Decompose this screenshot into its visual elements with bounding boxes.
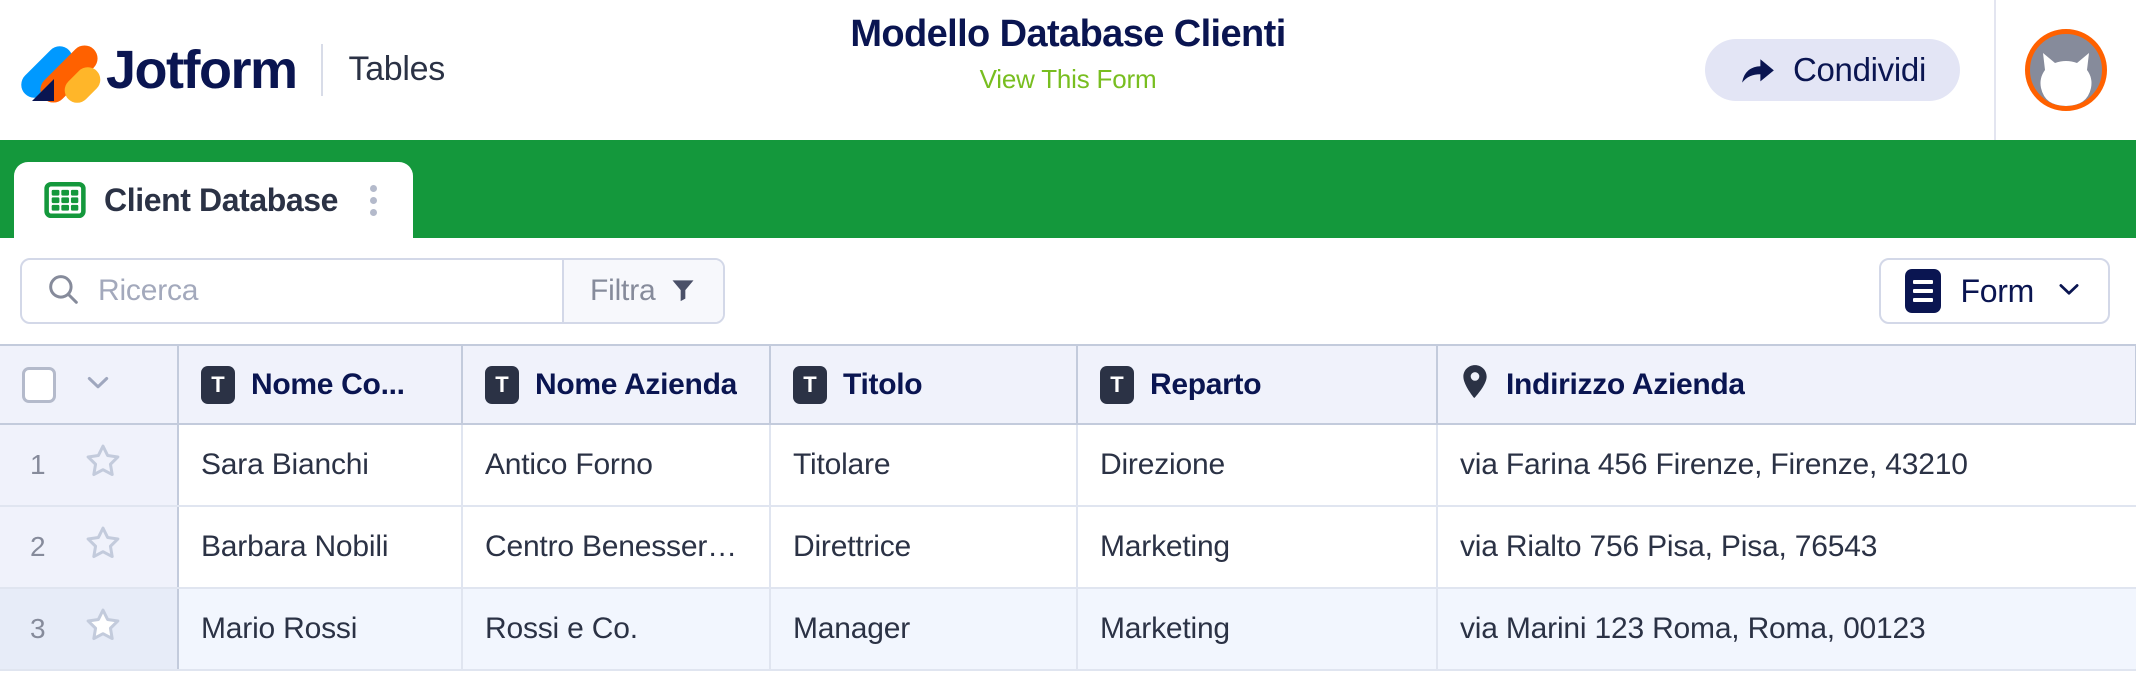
cell-titolo[interactable]: Manager [770, 588, 1077, 670]
column-header-label: Reparto [1150, 368, 1261, 402]
cell-nome-azienda[interactable]: Centro Benessere Armonia [462, 506, 770, 588]
row-number: 2 [30, 531, 54, 563]
row-number: 1 [30, 449, 54, 481]
search-icon [46, 272, 80, 311]
toolbar-right-group: Form [1879, 258, 2110, 324]
cell-titolo[interactable]: Titolare [770, 424, 1077, 506]
column-header-titolo[interactable]: T Titolo [770, 346, 1077, 424]
cell-titolo[interactable]: Direttrice [770, 506, 1077, 588]
column-header-nome-contatto[interactable]: T Nome Co... [178, 346, 462, 424]
column-header-reparto[interactable]: T Reparto [1077, 346, 1437, 424]
cell-indirizzo-azienda[interactable]: via Farina 456 Firenze, Firenze, 43210 [1437, 424, 2136, 506]
grid-table-icon [44, 179, 86, 221]
cell-nome-contatto[interactable]: Sara Bianchi [178, 424, 462, 506]
page-title: Modello Database Clienti [850, 12, 1285, 58]
table-row[interactable]: 3 Mario Rossi Rossi e Co. Manager Market… [0, 588, 2136, 670]
filter-button[interactable]: Filtra [562, 260, 723, 322]
cell-nome-azienda[interactable]: Antico Forno [462, 424, 770, 506]
user-avatar-cat-icon [2025, 29, 2107, 111]
cell-nome-azienda[interactable]: Rossi e Co. [462, 588, 770, 670]
cell-nome-contatto[interactable]: Mario Rossi [178, 588, 462, 670]
table-row[interactable]: 2 Barbara Nobili Centro Benessere Armoni… [0, 506, 2136, 588]
table-toolbar: Filtra Form [0, 238, 2136, 344]
view-switcher-label: Form [1961, 273, 2034, 310]
search-filter-group: Filtra [20, 258, 725, 324]
table-row[interactable]: 1 Sara Bianchi Antico Forno Titolare Dir… [0, 424, 2136, 506]
text-field-icon: T [201, 366, 235, 404]
cell-nome-contatto[interactable]: Barbara Nobili [178, 506, 462, 588]
view-this-form-link[interactable]: View This Form [0, 64, 2136, 95]
star-outline-icon[interactable] [84, 524, 122, 570]
data-grid: T Nome Co... T Nome Azienda T Tito [0, 344, 2136, 680]
cell-indirizzo-azienda[interactable]: via Rialto 756 Pisa, Pisa, 76543 [1437, 506, 2136, 588]
row-gutter-cell: 2 [0, 506, 178, 588]
more-vertical-icon[interactable] [356, 181, 387, 220]
filter-button-label: Filtra [590, 274, 655, 308]
text-field-icon: T [793, 366, 827, 404]
row-gutter-cell: 1 [0, 424, 178, 506]
location-pin-icon [1460, 364, 1490, 405]
table-header: T Nome Co... T Nome Azienda T Tito [0, 346, 2136, 424]
cell-reparto[interactable]: Direzione [1077, 424, 1437, 506]
chevron-down-icon[interactable] [82, 366, 114, 403]
form-document-icon [1905, 269, 1941, 313]
star-outline-icon[interactable] [84, 606, 122, 652]
text-field-icon: T [485, 366, 519, 404]
checkbox-unchecked-icon[interactable] [22, 367, 56, 403]
search-field-wrapper[interactable] [22, 260, 562, 322]
tab-client-database[interactable]: Client Database [14, 162, 413, 238]
tab-bar: Client Database [0, 140, 2136, 238]
table-header-row: T Nome Co... T Nome Azienda T Tito [0, 346, 2136, 424]
client-database-table: T Nome Co... T Nome Azienda T Tito [0, 346, 2136, 671]
column-header-indirizzo-azienda[interactable]: Indirizzo Azienda [1437, 346, 2136, 424]
column-header-label: Nome Co... [251, 368, 405, 402]
tab-label: Client Database [104, 182, 338, 219]
cell-indirizzo-azienda[interactable]: via Marini 123 Roma, Roma, 00123 [1437, 588, 2136, 670]
funnel-icon [669, 275, 697, 308]
select-all-header-cell [0, 346, 178, 424]
table-body: 1 Sara Bianchi Antico Forno Titolare Dir… [0, 424, 2136, 670]
view-switcher-button[interactable]: Form [1879, 258, 2110, 324]
search-input[interactable] [98, 274, 538, 308]
jotform-tables-app: Jotform Tables Modello Database Clienti … [0, 0, 2136, 680]
app-header: Jotform Tables Modello Database Clienti … [0, 0, 2136, 140]
column-header-label: Titolo [843, 368, 922, 402]
row-gutter-cell: 3 [0, 588, 178, 670]
column-header-label: Indirizzo Azienda [1506, 368, 1745, 402]
row-number: 3 [30, 613, 54, 645]
chevron-down-icon [2054, 274, 2084, 309]
star-outline-icon[interactable] [84, 442, 122, 488]
text-field-icon: T [1100, 366, 1134, 404]
column-header-label: Nome Azienda [535, 368, 737, 402]
cell-reparto[interactable]: Marketing [1077, 588, 1437, 670]
column-header-nome-azienda[interactable]: T Nome Azienda [462, 346, 770, 424]
cell-reparto[interactable]: Marketing [1077, 506, 1437, 588]
